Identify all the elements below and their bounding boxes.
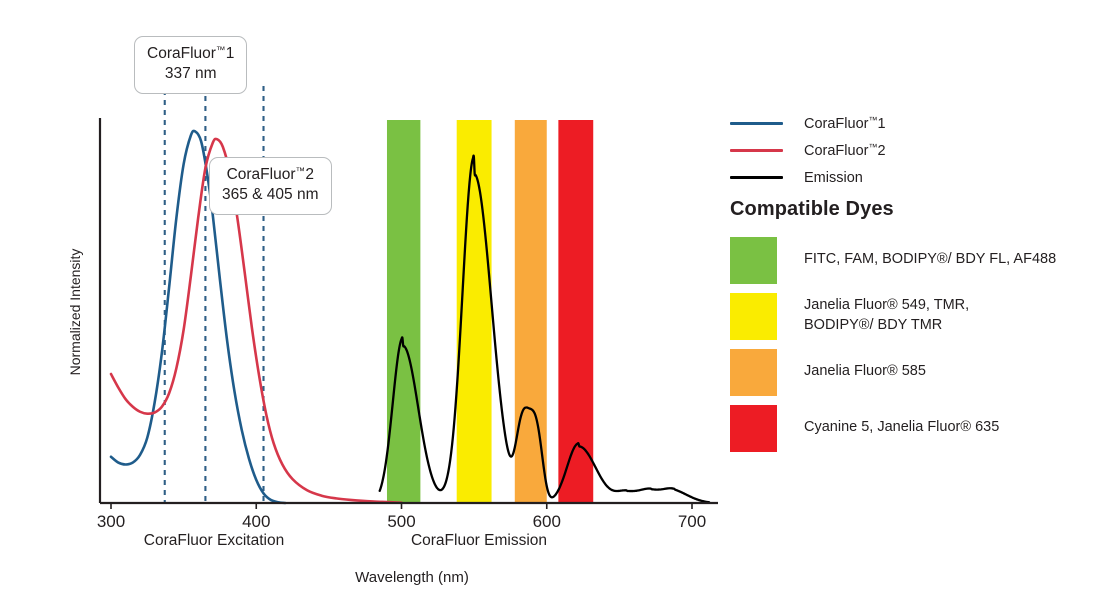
legend-series-row: CoraFluor™1 (730, 110, 1090, 137)
legend-series-label: CoraFluor™1 (804, 115, 886, 132)
callout-2-title: CoraFluor™2 (222, 165, 319, 185)
legend-series-row: CoraFluor™2 (730, 137, 1090, 164)
dye-color-swatch (730, 293, 777, 340)
callout-corafluor-2: CoraFluor™2 365 & 405 nm (209, 157, 332, 215)
legend-series-label: Emission (804, 170, 863, 186)
dye-label: Cyanine 5, Janelia Fluor® 635 (804, 418, 999, 438)
spectra-plot-svg: 300400500600700CoraFluor ExcitationCoraF… (0, 0, 730, 612)
dye-color-swatch (730, 237, 777, 284)
emission-band (387, 120, 420, 503)
dye-legend-row: Janelia Fluor® 549, TMR, BODIPY®/ BDY TM… (730, 288, 1100, 344)
figure-root: 300400500600700CoraFluor ExcitationCoraF… (0, 0, 1110, 612)
plot-area: 300400500600700CoraFluor ExcitationCoraF… (0, 0, 730, 612)
callout-1-value: 337 nm (147, 64, 234, 84)
dye-legend-row: Janelia Fluor® 585 (730, 344, 1100, 400)
excitation-region-label: CoraFluor Excitation (144, 532, 284, 549)
emission-region-label: CoraFluor Emission (411, 532, 547, 549)
legend-line-swatch (730, 122, 783, 125)
legend-series-row: Emission (730, 164, 1090, 191)
legend-line-swatch (730, 176, 783, 179)
dye-label: Janelia Fluor® 549, TMR, BODIPY®/ BDY TM… (804, 296, 969, 335)
x-axis-title: Wavelength (nm) (355, 569, 469, 586)
callout-2-value: 365 & 405 nm (222, 185, 319, 205)
x-tick-label: 400 (242, 512, 270, 531)
dye-color-swatch (730, 405, 777, 452)
dye-color-swatch (730, 349, 777, 396)
x-tick-label: 700 (678, 512, 706, 531)
dye-label: Janelia Fluor® 585 (804, 362, 926, 382)
x-ticks: 300400500600700 (97, 503, 706, 531)
dye-label: FITC, FAM, BODIPY®/ BDY FL, AF488 (804, 250, 1056, 270)
callout-1-title: CoraFluor™1 (147, 44, 234, 64)
compatible-dyes-list: FITC, FAM, BODIPY®/ BDY FL, AF488Janelia… (730, 232, 1100, 456)
legend-panel: CoraFluor™1CoraFluor™2Emission Compatibl… (730, 0, 1110, 612)
compatible-dyes-title: Compatible Dyes (730, 198, 894, 221)
x-tick-label: 600 (533, 512, 561, 531)
dye-legend-row: FITC, FAM, BODIPY®/ BDY FL, AF488 (730, 232, 1100, 288)
x-tick-label: 500 (387, 512, 415, 531)
legend-series-label: CoraFluor™2 (804, 142, 886, 159)
region-captions: CoraFluor ExcitationCoraFluor Emission (144, 532, 547, 549)
series-legend: CoraFluor™1CoraFluor™2Emission (730, 110, 1090, 191)
y-axis-title: Normalized Intensity (67, 249, 83, 376)
legend-line-swatch (730, 149, 783, 152)
dye-legend-row: Cyanine 5, Janelia Fluor® 635 (730, 400, 1100, 456)
callout-corafluor-1: CoraFluor™1 337 nm (134, 36, 247, 94)
emission-bands (387, 120, 593, 503)
x-tick-label: 300 (97, 512, 125, 531)
